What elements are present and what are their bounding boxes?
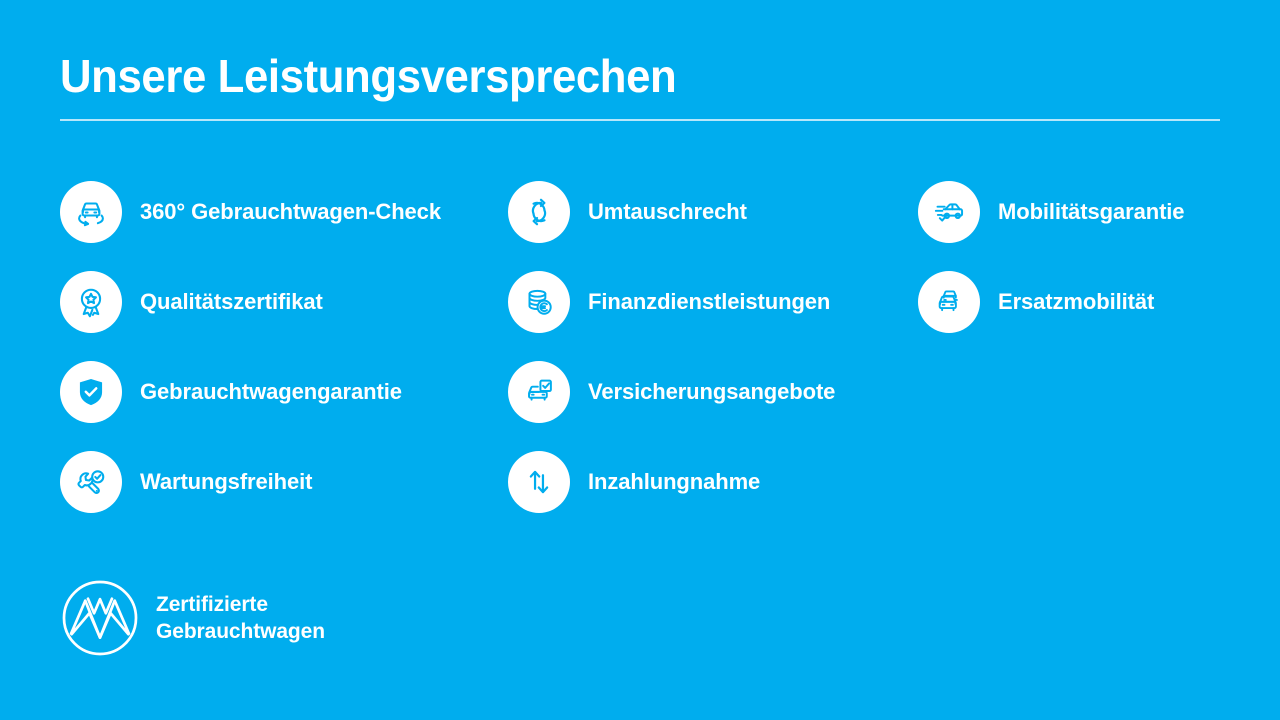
promise-item-maintenance-free[interactable]: Wartungsfreiheit [60,451,500,513]
promise-item-360-check[interactable]: 360° Gebrauchtwagen-Check [60,181,500,243]
promise-item-quality-certificate[interactable]: Qualitätszertifikat [60,271,500,333]
car-motion-check-icon [918,181,980,243]
promise-label: Inzahlungnahme [588,469,760,495]
promise-item-trade-in[interactable]: Inzahlungnahme [508,451,918,513]
promise-label: Gebrauchtwagengarantie [140,379,402,405]
promise-item-financial-services[interactable]: Finanzdienstleistungen [508,271,918,333]
brand-text: Zertifizierte Gebrauchtwagen [156,591,325,645]
volkswagen-logo [60,578,140,658]
promise-label: 360° Gebrauchtwagen-Check [140,199,441,225]
shield-check-icon [60,361,122,423]
promise-item-replacement-mobility[interactable]: Ersatzmobilität [918,271,1248,333]
brand-text-line-1: Zertifizierte [156,591,325,618]
brand-text-line-2: Gebrauchtwagen [156,618,325,645]
promise-item-right-of-exchange[interactable]: Umtauschrecht [508,181,918,243]
promises-column-1: 360° Gebrauchtwagen-Check Qualitätszerti… [60,181,500,541]
slide-root: Unsere Leistungsversprechen [0,0,1280,720]
exchange-arrows-icon [508,181,570,243]
promise-item-mobility-guarantee[interactable]: Mobilitätsgarantie [918,181,1248,243]
car-360-check-icon [60,181,122,243]
award-rosette-icon [60,271,122,333]
up-down-arrows-icon [508,451,570,513]
promise-item-warranty[interactable]: Gebrauchtwagengarantie [60,361,500,423]
promises-column-3: Mobilitätsgarantie Ersatzmobilitä [918,181,1248,361]
two-cars-icon [918,271,980,333]
title-divider [60,119,1220,121]
page-title: Unsere Leistungsversprechen [60,48,1162,104]
promise-label: Versicherungsangebote [588,379,835,405]
coins-euro-icon [508,271,570,333]
brand-lockup: Zertifizierte Gebrauchtwagen [60,578,325,658]
promise-label: Ersatzmobilität [998,289,1154,315]
wrench-check-icon [60,451,122,513]
promises-column-2: Umtauschrecht Finanzdienstleistungen [508,181,918,541]
promise-label: Wartungsfreiheit [140,469,312,495]
promise-label: Mobilitätsgarantie [998,199,1184,225]
car-checkbox-icon [508,361,570,423]
promise-item-insurance-offers[interactable]: Versicherungsangebote [508,361,918,423]
promise-label: Finanzdienstleistungen [588,289,830,315]
header: Unsere Leistungsversprechen [60,48,1220,104]
promise-label: Umtauschrecht [588,199,747,225]
promise-label: Qualitätszertifikat [140,289,323,315]
